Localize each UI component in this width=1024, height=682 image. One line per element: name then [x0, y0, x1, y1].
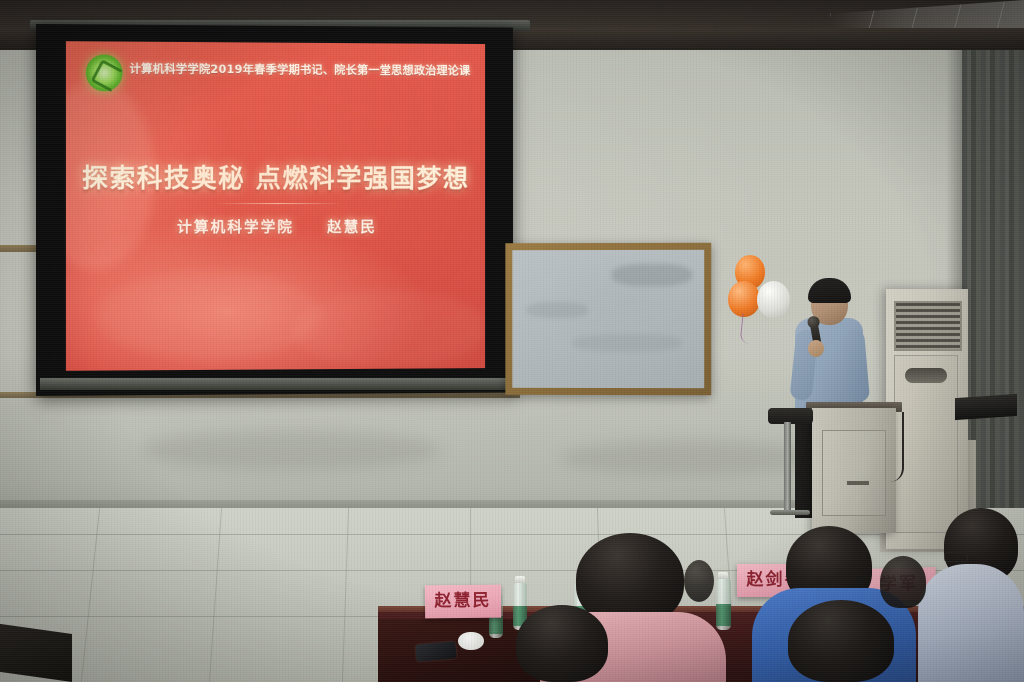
college-emblem-icon — [86, 54, 123, 91]
slide-title: 探索科技奥秘 点燃科学强国梦想 — [66, 158, 485, 195]
audience-member — [788, 600, 894, 682]
balloon-orange — [728, 281, 760, 317]
whiteboard — [505, 243, 711, 395]
podium-panel — [822, 430, 886, 516]
smartphone — [415, 641, 456, 661]
projection-screen: 计算机科学学院2019年春季学期书记、院长第一堂思想政治理论课 探索科技奥秘 点… — [36, 24, 513, 396]
air-conditioner-badge — [905, 368, 947, 383]
podium-handle — [847, 481, 869, 485]
podium-monitor — [955, 394, 1017, 420]
audience-member-shoulders — [918, 564, 1024, 682]
presentation-slide: 计算机科学学院2019年春季学期书记、院长第一堂思想政治理论课 探索科技奥秘 点… — [66, 41, 485, 371]
audience-member — [880, 556, 926, 612]
slide-subtitle: 计算机科学学院 赵慧民 — [66, 216, 485, 237]
podium-cable — [886, 412, 904, 482]
wall-stain — [560, 440, 820, 476]
screen-bottom-bar — [40, 378, 518, 390]
slide-divider — [214, 203, 341, 204]
emblem-spiral-icon — [90, 59, 124, 93]
wall-stain — [140, 430, 440, 470]
lectern — [812, 408, 896, 533]
speaker-hand — [808, 340, 824, 357]
bar-stool-post — [784, 422, 791, 514]
lecture-hall-photo: 计算机科学学院2019年春季学期书记、院长第一堂思想政治理论课 探索科技奥秘 点… — [0, 0, 1024, 682]
slide-header-text: 计算机科学学院2019年春季学期书记、院长第一堂思想政治理论课 — [130, 61, 474, 79]
whiteboard-surface — [512, 250, 704, 388]
eyeglasses-icon — [944, 552, 968, 562]
audience-member — [516, 605, 608, 682]
audience-member — [684, 560, 714, 606]
water-bottle — [716, 572, 731, 630]
balloon-white — [757, 281, 790, 318]
bar-stool-foot — [770, 510, 810, 515]
side-table — [0, 624, 72, 682]
air-conditioner-vent — [894, 301, 962, 351]
tissue-paper — [458, 632, 484, 650]
balloon-ribbon — [739, 313, 757, 344]
name-placard: 赵慧民 — [425, 585, 501, 619]
